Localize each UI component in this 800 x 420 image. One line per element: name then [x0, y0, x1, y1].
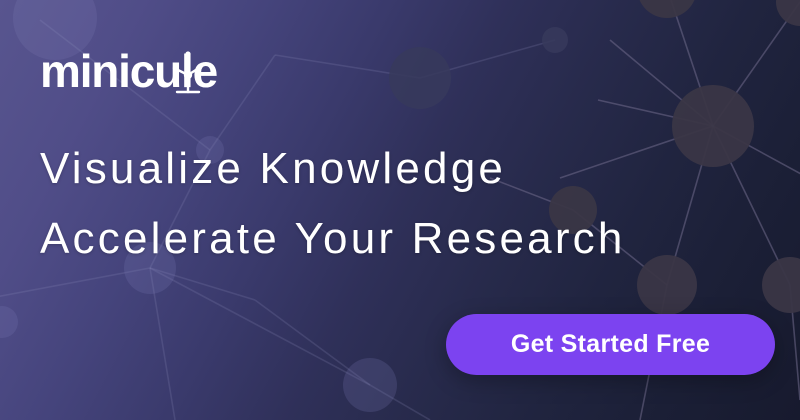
headline-line-2: Accelerate Your Research	[40, 204, 780, 274]
get-started-free-button[interactable]: Get Started Free	[446, 314, 775, 375]
page-title: Visualize Knowledge Accelerate Your Rese…	[40, 134, 780, 274]
headline-line-1: Visualize Knowledge	[40, 134, 780, 204]
molecule-icon	[162, 46, 214, 98]
logo[interactable]: minicule	[40, 44, 217, 98]
marketing-banner: minicule Visualize Knowledge Accelerate …	[0, 0, 800, 420]
